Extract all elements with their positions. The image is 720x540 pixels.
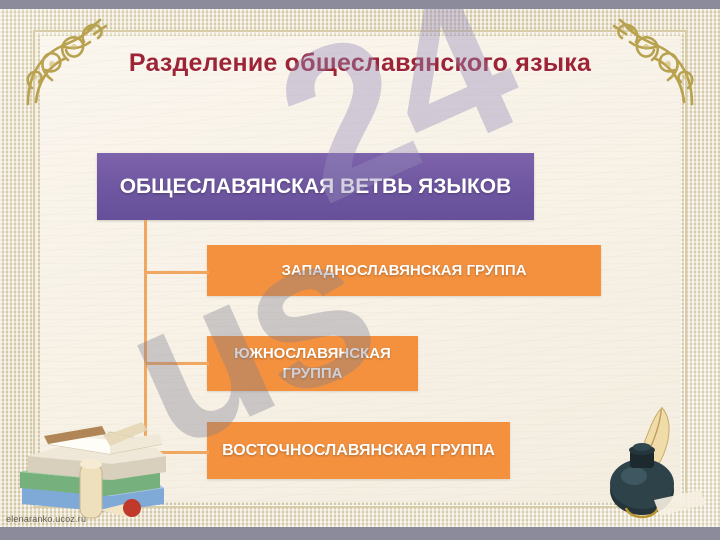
books-and-scrolls-illustration	[14, 392, 194, 522]
inkwell-and-quill-illustration	[596, 404, 712, 522]
node-south-slavic-group: ЮЖНОСЛАВЯНСКАЯ ГРУППА	[207, 336, 418, 391]
node-east-slavic-group: ВОСТОЧНОСЛАВЯНСКАЯ ГРУППА	[207, 422, 510, 479]
connector-branch-1	[144, 271, 209, 274]
node-root-common-slavic: ОБЩЕСЛАВЯНСКАЯ ВЕТВЬ ЯЗЫКОВ	[97, 153, 534, 220]
letterbox-bottom	[0, 527, 720, 540]
site-credit: elenaranko.ucoz.ru	[6, 514, 86, 524]
slide-title: Разделение общеславянского языка	[80, 48, 640, 78]
connector-branch-2	[144, 362, 209, 365]
slide-canvas: Разделение общеславянского языка ОБЩЕСЛА…	[0, 0, 720, 540]
letterbox-top	[0, 0, 720, 9]
node-west-slavic-group: ЗАПАДНОСЛАВЯНСКАЯ ГРУППА	[207, 245, 601, 296]
